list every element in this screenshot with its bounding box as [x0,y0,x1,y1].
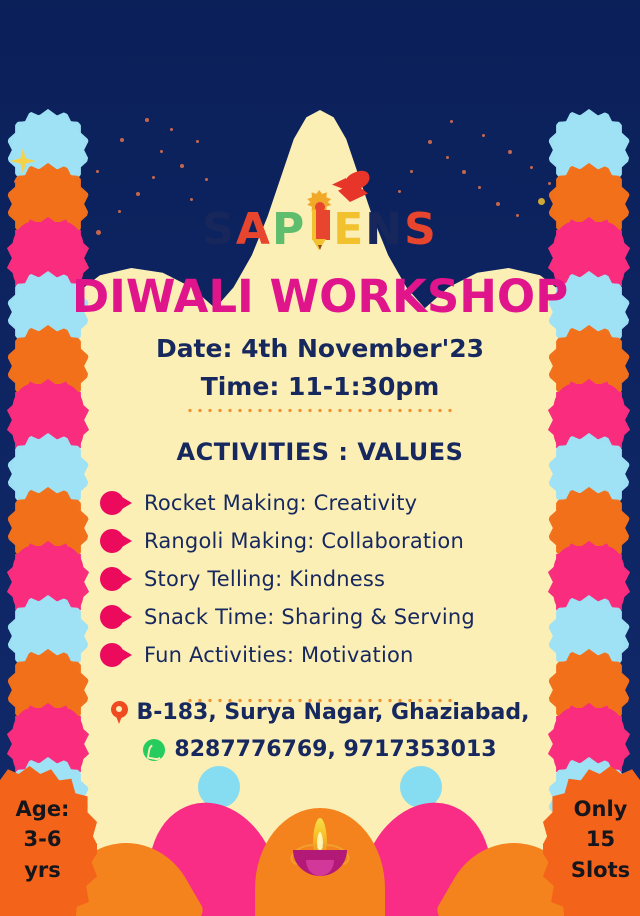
bird-icon [332,172,378,206]
pencil-icon [308,196,330,252]
list-item: Story Telling: Kindness [100,560,560,598]
brand-wordmark: S A P E N S [202,196,438,252]
list-item: Rocket Making: Creativity [100,484,560,522]
logo-letter-p: P [272,208,306,252]
age-badge-text: Age: 3-6 yrs [0,794,97,885]
bullet-arrow-icon [100,604,144,630]
logo-letter-s2: S [404,208,438,252]
page-title: DIWALI WORKSHOP [0,270,640,323]
bullet-arrow-icon [100,566,144,592]
workshop-time: Time: 11-1:30pm [0,372,640,401]
bullet-arrow-icon [100,642,144,668]
activity-label: Rocket Making: Creativity [144,491,417,515]
list-item: Rangoli Making: Collaboration [100,522,560,560]
divider-bottom [0,690,640,700]
list-item: Fun Activities: Motivation [100,636,560,674]
phone-numbers: 8287776769, 9717353013 [174,737,496,762]
activity-label: Rangoli Making: Collaboration [144,529,464,553]
activity-label: Story Telling: Kindness [144,567,385,591]
activity-label: Snack Time: Sharing & Serving [144,605,475,629]
divider-top [0,400,640,410]
list-item: Snack Time: Sharing & Serving [100,598,560,636]
logo-letter-s1: S [202,208,236,252]
address-row: B-183, Surya Nagar, Ghaziabad, [0,700,640,725]
address-text: B-183, Surya Nagar, Ghaziabad, [137,700,530,725]
logo-letter-e: E [333,208,365,252]
logo-letter-a: A [236,208,272,252]
logo-letter-n: N [365,208,404,252]
activity-label: Fun Activities: Motivation [144,643,414,667]
diwali-workshop-poster: S A P E N S DIWALI WORKSHOP D [0,0,640,916]
phone-row: 8287776769, 9717353013 [0,737,640,762]
slots-badge-text: Only 15 Slots [543,794,640,885]
workshop-date: Date: 4th November'23 [0,334,640,363]
bullet-arrow-icon [100,528,144,554]
bullet-arrow-icon [100,490,144,516]
activities-list: Rocket Making: Creativity Rangoli Making… [100,484,560,674]
section-heading-activities: ACTIVITIES : VALUES [0,438,640,466]
location-pin-icon [111,701,128,724]
brand-logo: S A P E N S [0,196,640,256]
whatsapp-icon[interactable] [143,739,165,761]
